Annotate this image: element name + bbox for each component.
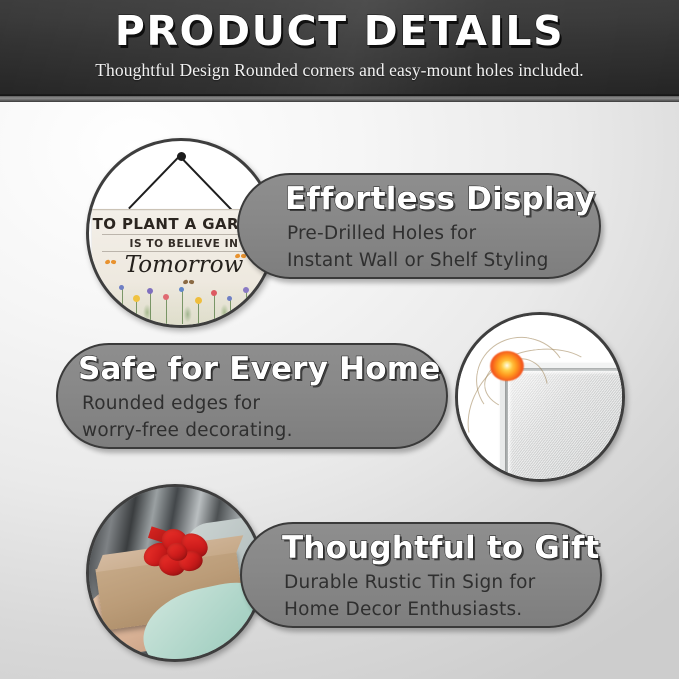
- feature-line1-effortless-display: Pre-Drilled Holes for: [287, 223, 476, 244]
- feature-panel-thoughtful-to-gift: Thoughtful to Gift Durable Rustic Tin Si…: [240, 522, 602, 628]
- feature-panel-effortless-display: Effortless Display Pre-Drilled Holes for…: [237, 173, 601, 279]
- feature-line1-safe-for-every-home: Rounded edges for: [82, 393, 260, 414]
- safety-glow-core: [501, 361, 513, 370]
- product-details-infographic: PRODUCT DETAILS Thoughtful Design Rounde…: [0, 0, 679, 679]
- header-banner: PRODUCT DETAILS Thoughtful Design Rounde…: [0, 0, 679, 96]
- feature-line2-effortless-display: Instant Wall or Shelf Styling: [287, 250, 549, 271]
- header-subtitle: Thoughtful Design Rounded corners and ea…: [0, 60, 679, 81]
- sign-cord-right: [128, 155, 181, 209]
- feature-image-gift-box: [86, 484, 264, 662]
- header-divider-strip: [0, 96, 679, 102]
- page-title: PRODUCT DETAILS: [0, 7, 679, 55]
- feature-line2-safe-for-every-home: worry-free decorating.: [82, 420, 293, 441]
- sign-wildflower-meadow: [92, 282, 276, 328]
- feature-title-effortless-display: Effortless Display: [285, 181, 595, 217]
- feature-line2-thoughtful-to-gift: Home Decor Enthusiasts.: [284, 599, 522, 620]
- gift-scene: [89, 487, 261, 659]
- feature-image-rounded-metal-corner: [455, 312, 625, 482]
- sign-cord-left: [180, 156, 233, 210]
- gift-red-bow-icon: [138, 520, 215, 581]
- feature-line1-thoughtful-to-gift: Durable Rustic Tin Sign for: [284, 572, 535, 593]
- feature-title-thoughtful-to-gift: Thoughtful to Gift: [282, 530, 600, 566]
- feature-title-safe-for-every-home: Safe for Every Home: [78, 351, 440, 387]
- feature-panel-safe-for-every-home: Safe for Every Home Rounded edges for wo…: [56, 343, 448, 449]
